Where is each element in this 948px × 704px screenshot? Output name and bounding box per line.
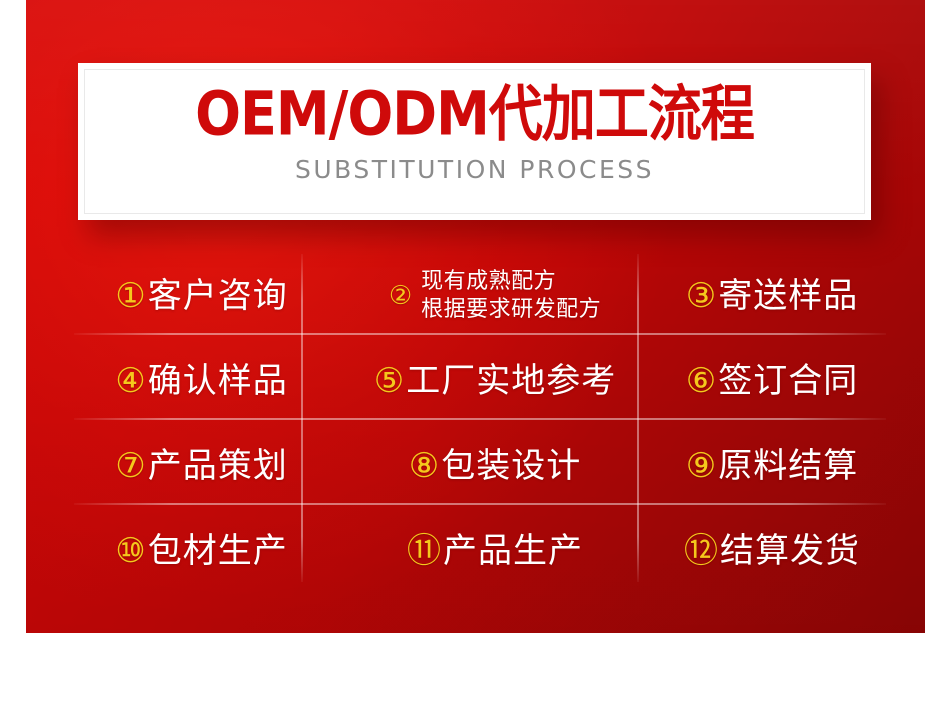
step-label-2-line-2: 根据要求研发配方 xyxy=(421,296,601,324)
step-number-12: ⑫ xyxy=(684,534,718,568)
step-label-6: 签订合同 xyxy=(718,364,858,398)
step-label-8: 包装设计 xyxy=(441,449,581,483)
process-step-11: ⑪ 产品生产 xyxy=(327,508,663,593)
process-step-grid: ① 客户咨询 ② 现有成熟配方 根据要求研发配方 ③ 寄送样品 xyxy=(76,253,881,593)
process-step-12: ⑫ 结算发货 xyxy=(663,508,881,593)
process-step-5: ⑤ 工厂实地参考 xyxy=(327,338,663,423)
title-card: OEM/ODM代加工流程 SUBSTITUTION PROCESS xyxy=(78,63,871,220)
step-label-12: 结算发货 xyxy=(720,534,860,568)
step-label-2: 现有成熟配方 根据要求研发配方 xyxy=(421,268,601,323)
step-label-2-line-1: 现有成熟配方 xyxy=(421,268,601,296)
step-number-1: ① xyxy=(115,279,145,313)
step-number-10: ⑩ xyxy=(115,534,145,568)
page-subtitle: SUBSTITUTION PROCESS xyxy=(295,155,654,184)
process-step-3: ③ 寄送样品 xyxy=(663,253,881,338)
step-number-4: ④ xyxy=(115,364,145,398)
process-step-6: ⑥ 签订合同 xyxy=(663,338,881,423)
poster-canvas: OEM/ODM代加工流程 SUBSTITUTION PROCESS ① 客户咨询… xyxy=(0,0,948,704)
step-number-8: ⑧ xyxy=(409,449,439,483)
process-row: ⑩ 包材生产 ⑪ 产品生产 ⑫ 结算发货 xyxy=(76,508,881,593)
step-number-2: ② xyxy=(389,283,412,309)
step-label-10: 包材生产 xyxy=(148,534,288,568)
step-number-11: ⑪ xyxy=(407,534,441,568)
title-card-inner-border: OEM/ODM代加工流程 SUBSTITUTION PROCESS xyxy=(84,69,865,214)
step-label-3: 寄送样品 xyxy=(718,279,858,313)
step-label-11: 产品生产 xyxy=(443,534,583,568)
step-number-6: ⑥ xyxy=(686,364,716,398)
step-label-5: 工厂实地参考 xyxy=(406,364,616,398)
step-number-7: ⑦ xyxy=(115,449,145,483)
step-label-7: 产品策划 xyxy=(148,449,288,483)
step-number-9: ⑨ xyxy=(686,449,716,483)
process-step-7: ⑦ 产品策划 xyxy=(76,423,327,508)
red-background-panel: OEM/ODM代加工流程 SUBSTITUTION PROCESS ① 客户咨询… xyxy=(26,0,925,633)
process-step-2: ② 现有成熟配方 根据要求研发配方 xyxy=(327,253,663,338)
process-step-10: ⑩ 包材生产 xyxy=(76,508,327,593)
step-number-3: ③ xyxy=(686,279,716,313)
step-label-4: 确认样品 xyxy=(148,364,288,398)
process-step-9: ⑨ 原料结算 xyxy=(663,423,881,508)
process-step-1: ① 客户咨询 xyxy=(76,253,327,338)
process-step-8: ⑧ 包装设计 xyxy=(327,423,663,508)
process-row: ① 客户咨询 ② 现有成熟配方 根据要求研发配方 ③ 寄送样品 xyxy=(76,253,881,338)
process-row: ④ 确认样品 ⑤ 工厂实地参考 ⑥ 签订合同 xyxy=(76,338,881,423)
page-title: OEM/ODM代加工流程 xyxy=(195,82,754,146)
process-step-4: ④ 确认样品 xyxy=(76,338,327,423)
step-label-1: 客户咨询 xyxy=(148,279,288,313)
step-number-5: ⑤ xyxy=(374,364,404,398)
process-row: ⑦ 产品策划 ⑧ 包装设计 ⑨ 原料结算 xyxy=(76,423,881,508)
step-label-9: 原料结算 xyxy=(718,449,858,483)
